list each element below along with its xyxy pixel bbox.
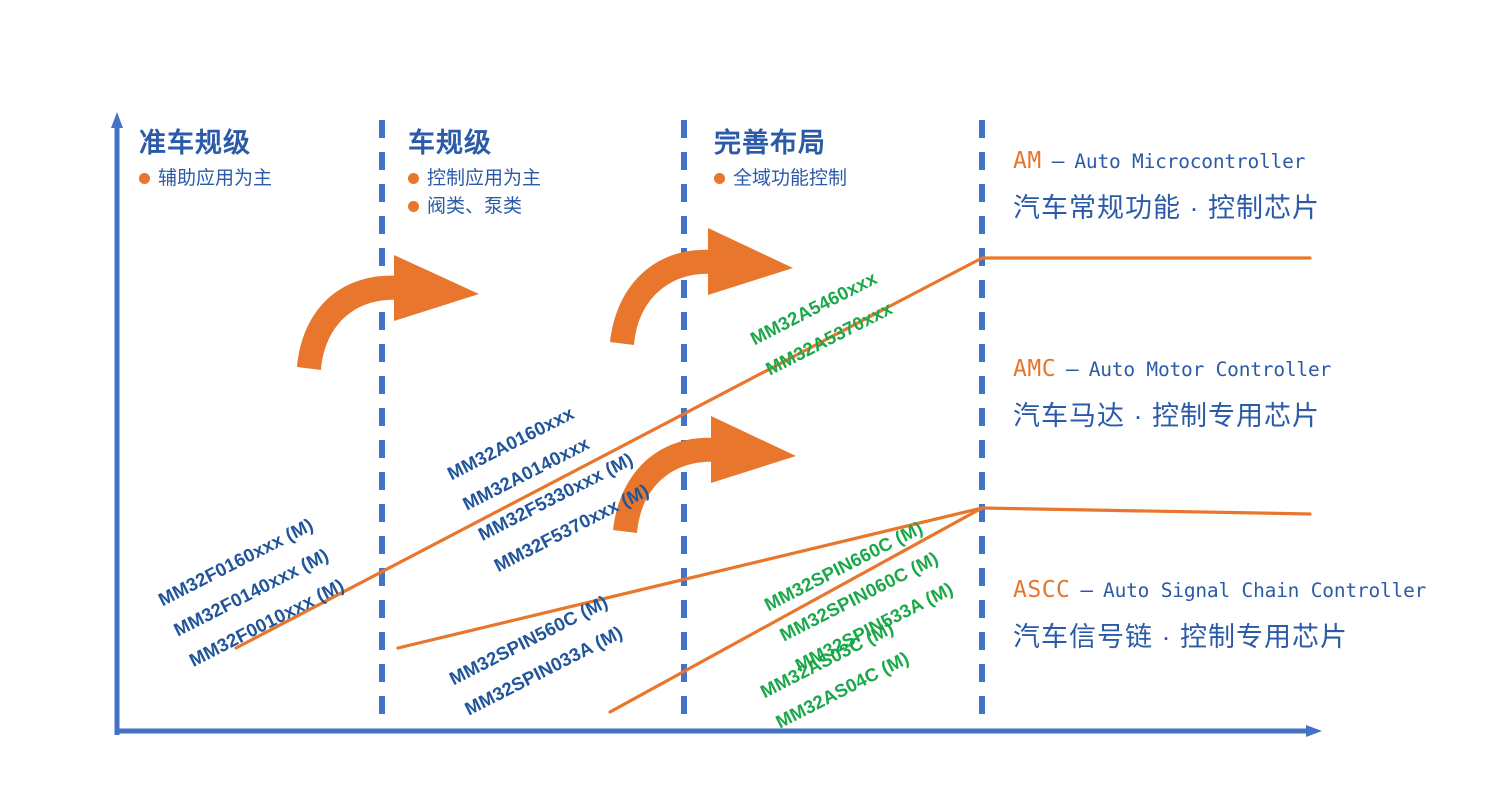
legend-abbr: AM	[1013, 148, 1042, 174]
stage-bullets-3: 全域功能控制	[714, 165, 847, 193]
x-axis-arrowhead	[1306, 725, 1322, 737]
legend-head-amc: AMC — Auto Motor Controller	[1013, 356, 1331, 382]
legend-full-name: Auto Microcontroller	[1074, 150, 1305, 173]
legend-description-cn: 汽车马达 · 控制专用芯片	[1013, 394, 1331, 433]
stage-bullets-2: 控制应用为主 阀类、泵类	[408, 165, 541, 220]
stage-header-3: 完善布局 全域功能控制	[714, 128, 847, 193]
stage-bullets-1: 辅助应用为主	[139, 165, 272, 193]
bullet-text: 阀类、泵类	[427, 193, 522, 221]
bullet-text: 辅助应用为主	[158, 165, 272, 193]
legend-dash-icon: —	[1080, 578, 1093, 602]
legend-head-ascc: ASCC — Auto Signal Chain Controller	[1013, 577, 1426, 603]
stage-bullet-3-0: 全域功能控制	[714, 165, 847, 193]
bullet-dot-icon	[714, 173, 725, 184]
legend-full-name: Auto Signal Chain Controller	[1103, 579, 1426, 602]
stage-header-1: 准车规级 辅助应用为主	[139, 128, 272, 193]
legend-entry-ascc: ASCC — Auto Signal Chain Controller 汽车信号…	[1013, 577, 1426, 654]
legend-abbr: AMC	[1013, 356, 1056, 382]
legend-dash-icon: —	[1066, 357, 1079, 381]
progress-arrow-1	[297, 255, 479, 370]
legend-full-name: Auto Motor Controller	[1089, 358, 1331, 381]
stage-header-2: 车规级 控制应用为主 阀类、泵类	[408, 128, 541, 220]
bullet-dot-icon	[408, 201, 419, 212]
bullet-dot-icon	[408, 173, 419, 184]
bullet-dot-icon	[139, 173, 150, 184]
legend-description-cn: 汽车信号链 · 控制专用芯片	[1013, 615, 1426, 654]
bullet-text: 控制应用为主	[427, 165, 541, 193]
roadmap-diagram: 准车规级 辅助应用为主 车规级 控制应用为主 阀类、泵类 完善布局	[0, 0, 1485, 799]
legend-dash-icon: —	[1052, 149, 1065, 173]
stage-bullet-2-0: 控制应用为主	[408, 165, 541, 193]
legend-entry-amc: AMC — Auto Motor Controller 汽车马达 · 控制专用芯…	[1013, 356, 1331, 433]
legend-description-cn: 汽车常规功能 · 控制芯片	[1013, 186, 1320, 225]
legend-head-am: AM — Auto Microcontroller	[1013, 148, 1320, 174]
legend-entry-am: AM — Auto Microcontroller 汽车常规功能 · 控制芯片	[1013, 148, 1320, 225]
stage-title-1: 准车规级	[139, 128, 272, 159]
bullet-text: 全域功能控制	[733, 165, 847, 193]
stage-bullet-1-0: 辅助应用为主	[139, 165, 272, 193]
legend-abbr: ASCC	[1013, 577, 1070, 603]
stage-bullet-2-1: 阀类、泵类	[408, 193, 541, 221]
stage-title-3: 完善布局	[714, 128, 847, 159]
y-axis-arrowhead	[111, 112, 123, 128]
stage-title-2: 车规级	[408, 128, 541, 159]
